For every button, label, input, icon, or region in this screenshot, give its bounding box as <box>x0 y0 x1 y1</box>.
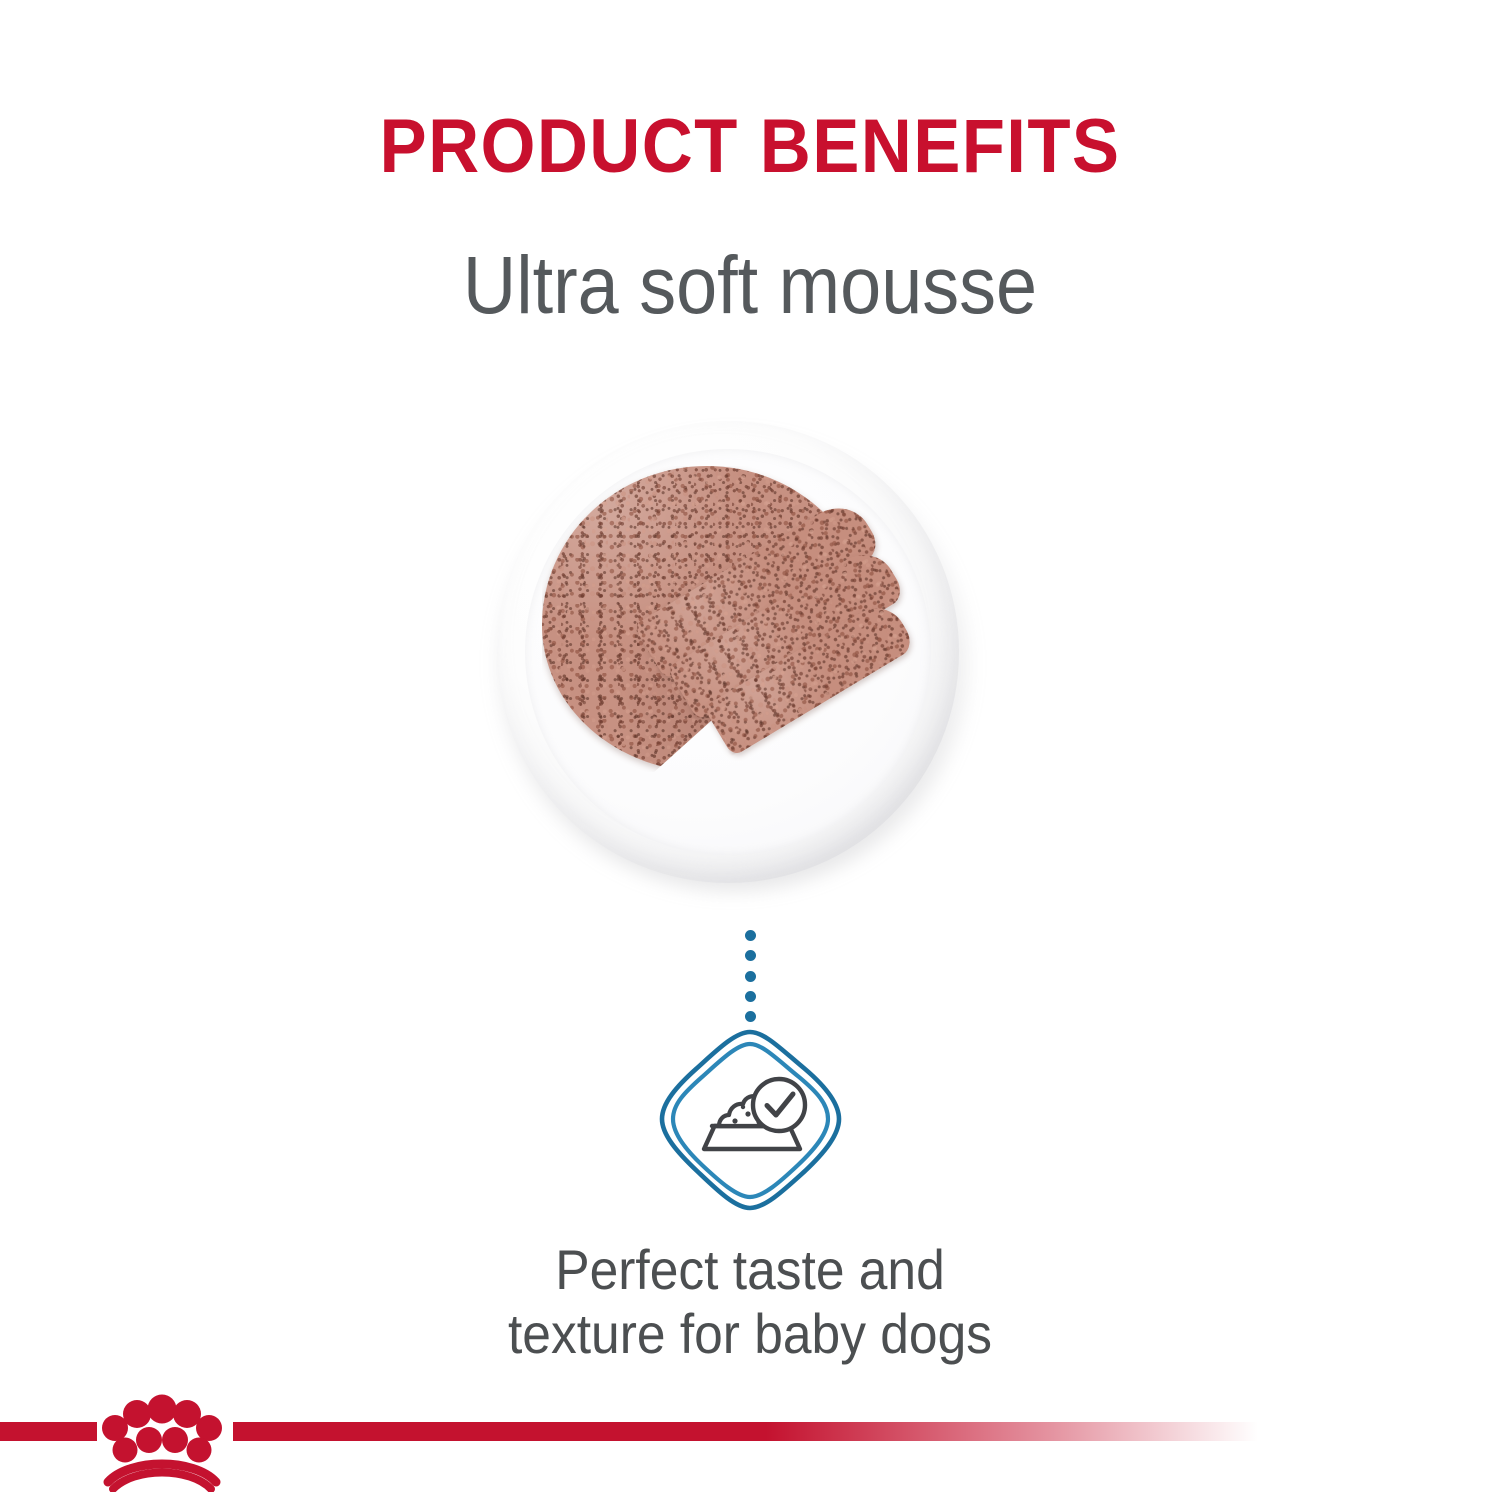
kibble-dot <box>745 1111 750 1116</box>
connector-dot <box>745 991 756 1002</box>
connector-dot <box>745 1011 756 1022</box>
footer-rule-left <box>0 1422 97 1441</box>
benefit-caption-line-1: Perfect taste and <box>60 1238 1440 1302</box>
royal-canin-crown-logo <box>92 1388 232 1492</box>
connector-dot <box>745 971 756 982</box>
kibble-dot <box>732 1118 737 1123</box>
page-subtitle: Ultra soft mousse <box>75 238 1425 334</box>
crown-arc-inner <box>113 1473 211 1490</box>
food-bowl-check-icon <box>655 1025 845 1215</box>
mousse-group <box>483 413 983 903</box>
benefit-caption-line-2: texture for baby dogs <box>60 1302 1440 1366</box>
crown-dots <box>102 1395 222 1463</box>
product-photo <box>483 413 983 903</box>
connector-dot <box>745 930 756 941</box>
footer-rule-right <box>233 1422 1258 1441</box>
check-circle <box>753 1079 805 1131</box>
page-title: PRODUCT BENEFITS <box>53 104 1448 190</box>
benefit-caption: Perfect taste and texture for baby dogs <box>60 1238 1440 1366</box>
connector-dot <box>745 950 756 961</box>
kibble-dot <box>741 1105 745 1109</box>
dotted-connector <box>742 930 758 1022</box>
footer <box>0 1380 1500 1500</box>
